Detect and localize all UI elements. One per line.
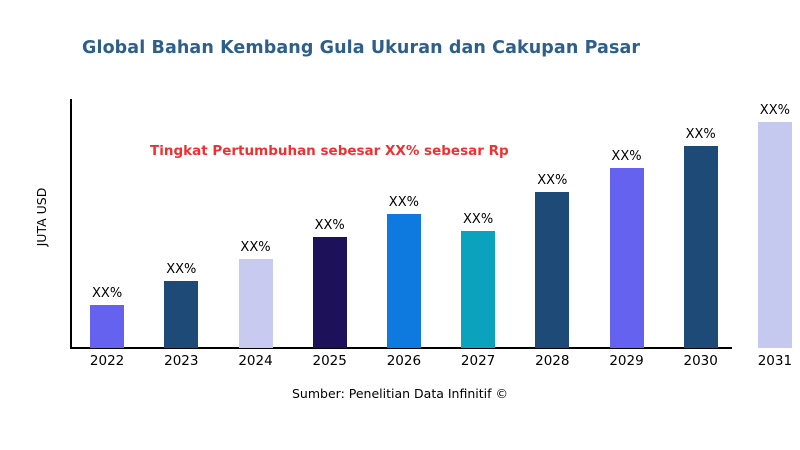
bar-value-label: XX% <box>92 286 122 301</box>
bars-layer: XX%2022XX%2023XX%2024XX%2025XX%2026XX%20… <box>0 0 800 450</box>
bar[interactable] <box>239 259 273 348</box>
bar-group: XX% <box>239 0 273 348</box>
bar-group: XX% <box>535 0 569 348</box>
bar-group: XX% <box>461 0 495 348</box>
x-tick-label: 2023 <box>164 353 198 369</box>
bar[interactable] <box>387 214 421 348</box>
bar-group: XX% <box>387 0 421 348</box>
bar[interactable] <box>461 231 495 348</box>
bar[interactable] <box>164 281 198 348</box>
bar[interactable] <box>758 122 792 348</box>
bar-group: XX% <box>164 0 198 348</box>
bar-group: XX% <box>313 0 347 348</box>
bar-group: XX% <box>758 0 792 348</box>
x-tick-label: 2029 <box>609 353 643 369</box>
bar[interactable] <box>684 146 718 348</box>
bar[interactable] <box>610 168 644 348</box>
source-note: Sumber: Penelitian Data Infinitif © <box>0 386 800 401</box>
x-tick-label: 2027 <box>461 353 495 369</box>
bar-value-label: XX% <box>611 149 641 164</box>
bar[interactable] <box>535 192 569 348</box>
bar-group: XX% <box>684 0 718 348</box>
bar[interactable] <box>313 237 347 348</box>
bar-group: XX% <box>610 0 644 348</box>
bar-value-label: XX% <box>537 173 567 188</box>
x-tick-label: 2028 <box>535 353 569 369</box>
bar-value-label: XX% <box>686 127 716 142</box>
x-tick-label: 2030 <box>684 353 718 369</box>
bar-value-label: XX% <box>166 262 196 277</box>
x-tick-label: 2024 <box>238 353 272 369</box>
bar-value-label: XX% <box>315 218 345 233</box>
bar-value-label: XX% <box>389 195 419 210</box>
bar-value-label: XX% <box>760 103 790 118</box>
x-tick-label: 2022 <box>90 353 124 369</box>
x-tick-label: 2026 <box>387 353 421 369</box>
bar-value-label: XX% <box>240 240 270 255</box>
bar-value-label: XX% <box>463 212 493 227</box>
bar[interactable] <box>90 305 124 348</box>
x-tick-label: 2025 <box>313 353 347 369</box>
x-tick-label: 2031 <box>758 353 792 369</box>
bar-chart-figure: Global Bahan Kembang Gula Ukuran dan Cak… <box>0 0 800 450</box>
bar-group: XX% <box>90 0 124 348</box>
